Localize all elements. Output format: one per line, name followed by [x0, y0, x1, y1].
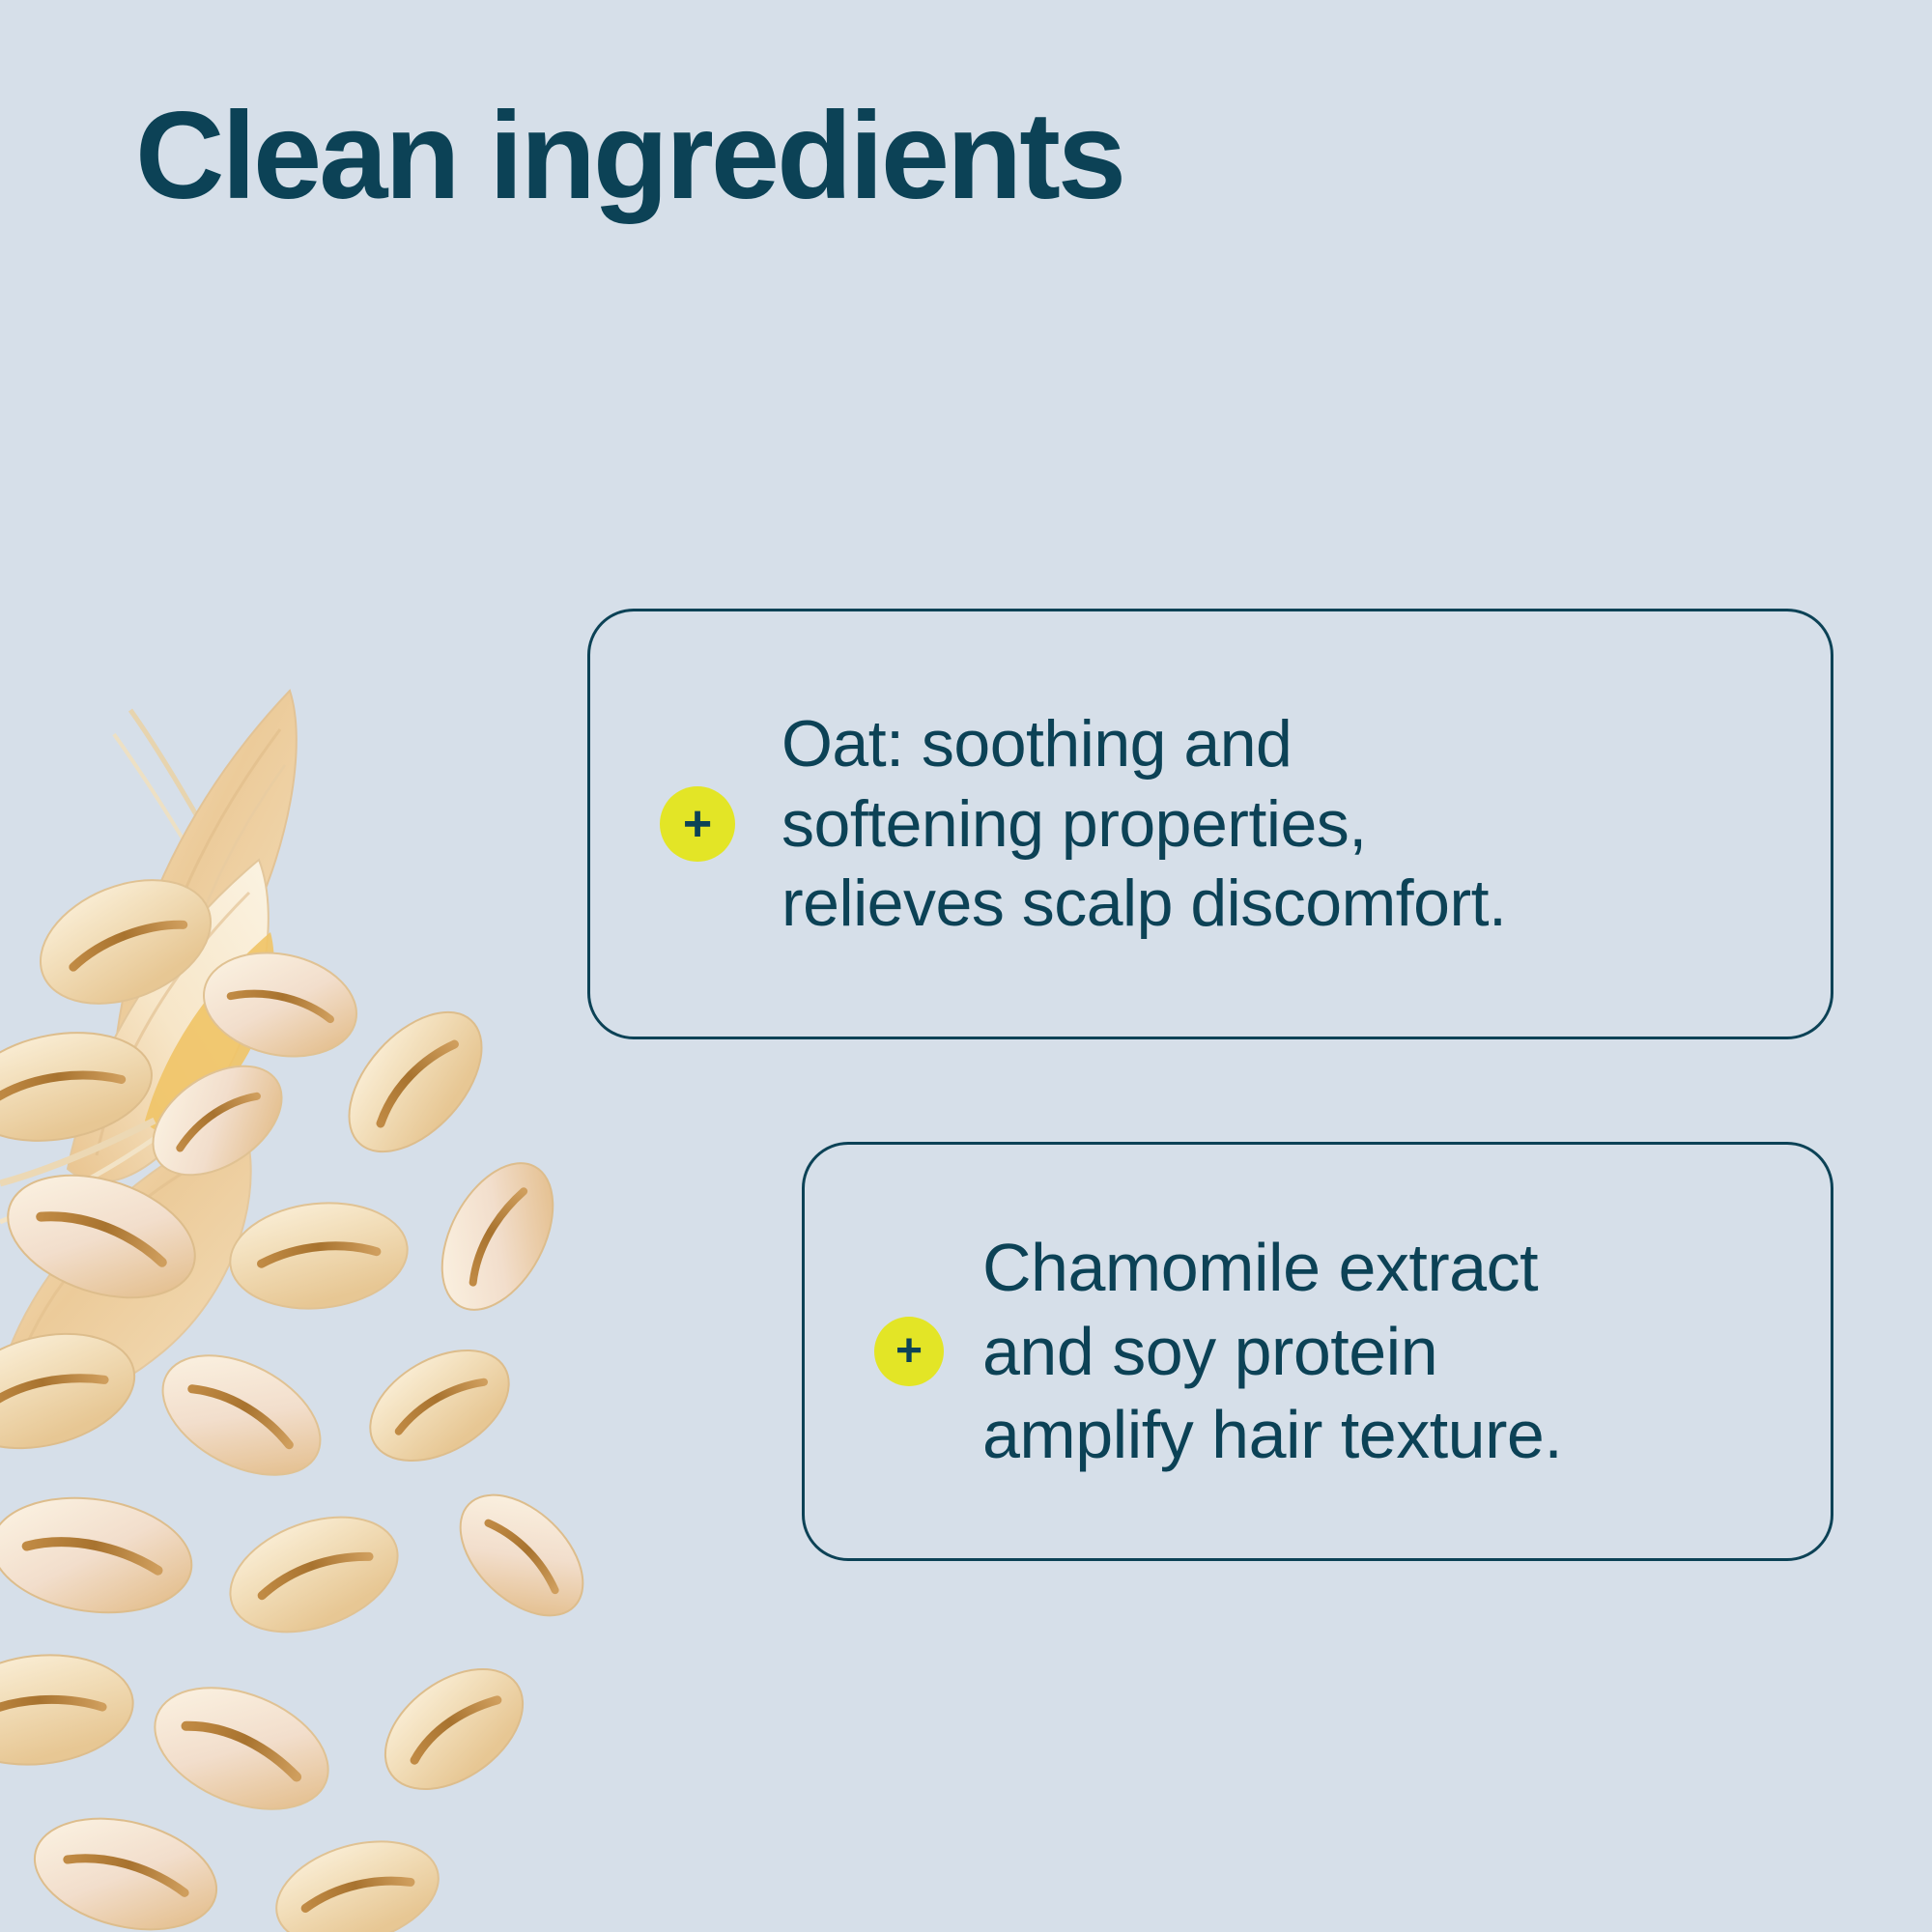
ingredient-card-chamomile-text: Chamomile extract and soy protein amplif… — [982, 1226, 1562, 1477]
plus-icon: + — [874, 1317, 944, 1386]
plus-icon: + — [660, 786, 735, 862]
ingredient-card-oat-text: Oat: soothing and softening properties, … — [781, 704, 1506, 945]
page-title: Clean ingredients — [135, 92, 1123, 221]
ingredient-card-oat: + Oat: soothing and softening properties… — [587, 609, 1833, 1039]
oat-photo — [0, 502, 638, 1932]
ingredient-card-chamomile: + Chamomile extract and soy protein ampl… — [802, 1142, 1833, 1561]
clean-ingredients-panel: Clean ingredients — [0, 0, 1932, 1932]
